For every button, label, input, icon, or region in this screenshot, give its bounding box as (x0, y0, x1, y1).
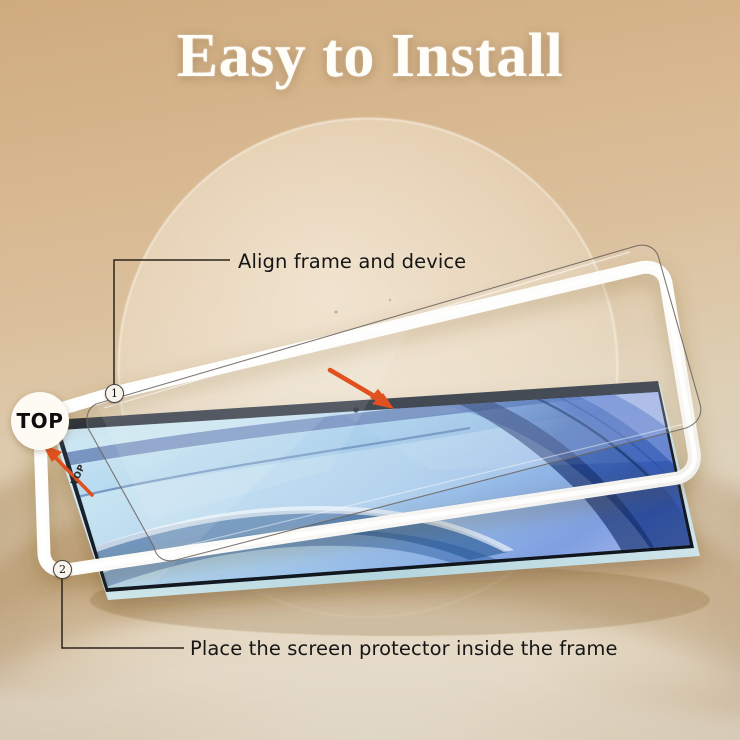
callout-align-frame-and-device-label: Align frame and device (238, 250, 466, 273)
callout-place-screen-protector-label: Place the screen protector inside the fr… (190, 637, 618, 660)
page-title: Easy to Install (0, 22, 740, 90)
top-orientation-badge: TOP (11, 392, 69, 450)
product-illustration (0, 0, 740, 740)
infographic-canvas: Easy to Install Align frame and device P… (0, 0, 740, 740)
callout-marker-1: 1 (105, 384, 124, 403)
callout-marker-2: 2 (53, 560, 72, 579)
